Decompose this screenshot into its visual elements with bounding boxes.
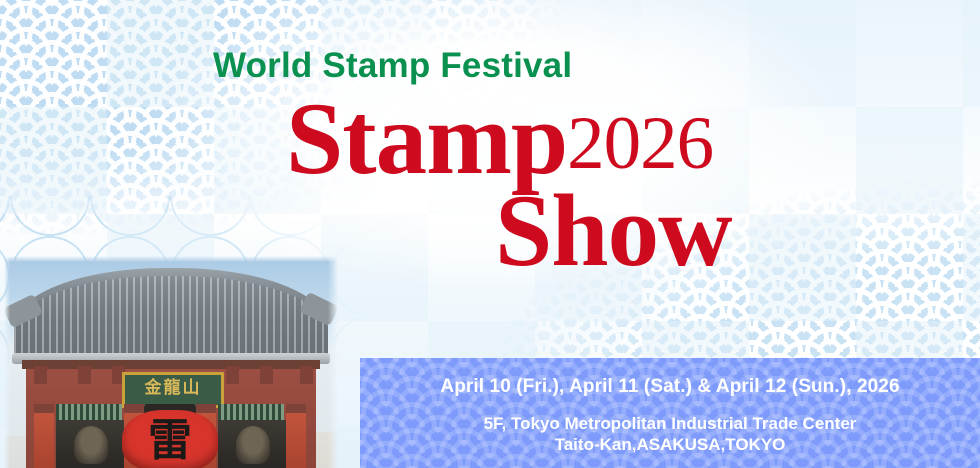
gate-bracket [34, 366, 47, 384]
event-venue: 5F, Tokyo Metropolitan Industrial Trade … [360, 414, 980, 455]
venue-line-1: 5F, Tokyo Metropolitan Industrial Trade … [360, 414, 980, 435]
banner-content: April 10 (Fri.), April 11 (Sat.) & April… [360, 358, 980, 468]
gate-statue-left [74, 426, 108, 464]
logo-year: 2026 [567, 102, 713, 185]
lantern-kanji: 雷門 [140, 416, 200, 468]
gate-bracket [78, 366, 91, 384]
gate-plaque: 金龍山 [122, 372, 224, 408]
gate-bracket [260, 366, 273, 384]
supertitle: World Stamp Festival [213, 46, 572, 86]
logo-word-show: Show [495, 180, 731, 283]
event-info-banner: April 10 (Fri.), April 11 (Sat.) & April… [360, 358, 980, 468]
gate-statue-niche-left [56, 420, 126, 468]
gate-statue-niche-right [218, 420, 288, 468]
event-poster: 金龍山 雷門 World Stamp Festival Stamp2026 Sh… [0, 0, 980, 468]
venue-line-2: Taito-Kan,ASAKUSA,TOKYO [360, 435, 980, 456]
gate-pillar-right [286, 412, 306, 468]
kaminarimon-photo: 金龍山 雷門 [4, 256, 338, 468]
event-dates: April 10 (Fri.), April 11 (Sat.) & April… [360, 358, 980, 398]
gate-bracket [226, 366, 239, 384]
gate-beam [22, 360, 320, 369]
gate-statue-right [236, 426, 270, 464]
gate-bracket [300, 366, 313, 384]
gate-pillar-left [34, 412, 54, 468]
